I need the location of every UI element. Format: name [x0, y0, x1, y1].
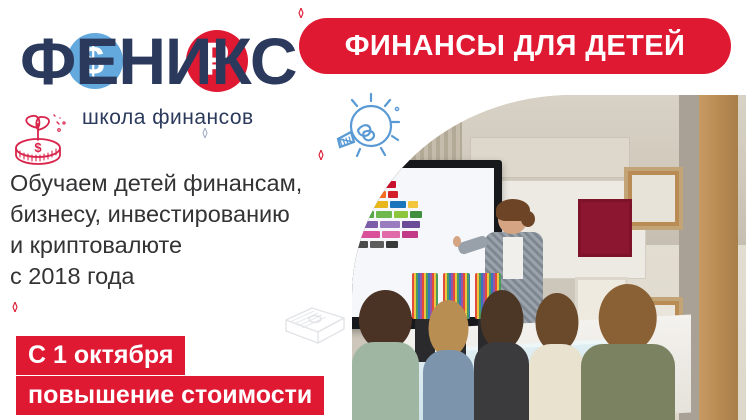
photo-shelf-red: [578, 199, 631, 257]
photo-child: [474, 290, 529, 420]
lead-line-1: Обучаем детей финансам,: [10, 168, 360, 199]
lightbulb-icon: [318, 92, 404, 170]
photo-child: [423, 300, 474, 420]
sparkle-icon: [296, 8, 303, 15]
lead-line-3: и криптовалюте: [10, 230, 360, 261]
photo-inner: [352, 95, 746, 420]
cta-line-2: повышение стоимости: [16, 376, 324, 415]
svg-text:$: $: [34, 140, 42, 155]
promo-banner: $ ₽ ФЕНИКС школа финансов ФИНАНСЫ ДЛЯ ДЕ…: [0, 0, 746, 420]
photo-shelf-wood-top: [624, 167, 683, 230]
sparkle-icon: [316, 150, 323, 157]
lead-paragraph: Обучаем детей финансам, бизнесу, инвести…: [10, 168, 360, 292]
logo-wordmark: $ ₽ ФЕНИКС: [20, 22, 310, 100]
headline-text: ФИНАНСЫ ДЛЯ ДЕТЕЙ: [345, 30, 685, 63]
sparkle-icon: [200, 128, 207, 135]
sprout-coin-icon: $: [2, 104, 72, 170]
sparkle-icon: [10, 302, 17, 309]
logo-tagline: школа финансов: [82, 106, 254, 130]
photo-door: [699, 95, 738, 420]
cta-line-1: С 1 октября: [16, 336, 185, 375]
classroom-photo: [352, 95, 746, 420]
photo-child: [352, 290, 419, 420]
lead-line-2: бизнесу, инвестированию: [10, 199, 360, 230]
headline-pill: ФИНАНСЫ ДЛЯ ДЕТЕЙ: [299, 18, 731, 74]
photo-child: [529, 293, 584, 420]
photo-child-foreground: [581, 284, 676, 420]
logo-text: ФЕНИКС: [20, 22, 297, 100]
money-stack-icon: [272, 302, 356, 350]
lead-line-4: с 2018 года: [10, 261, 360, 292]
